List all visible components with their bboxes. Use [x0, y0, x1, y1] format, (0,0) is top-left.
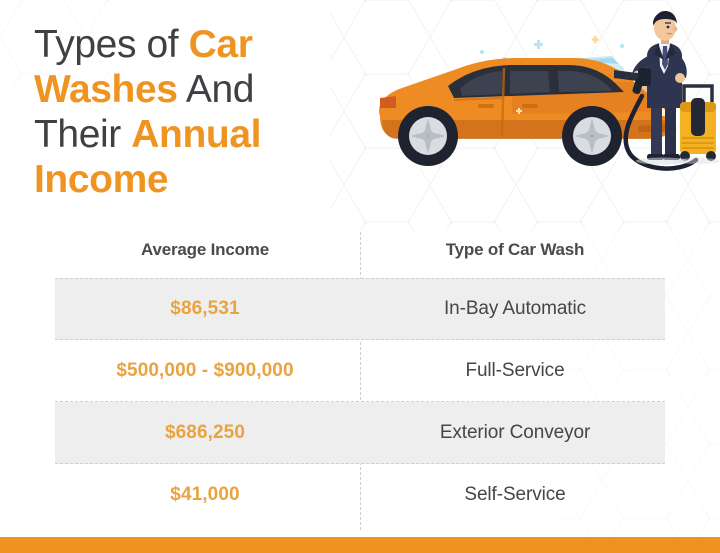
- title-line-4: Income: [34, 157, 364, 202]
- title-part-car: Car: [189, 23, 253, 66]
- title-part-income: Income: [34, 158, 168, 201]
- car-wash-illustration: [362, 8, 720, 208]
- cell-income: $86,531: [55, 278, 355, 340]
- title-part-annual: Annual: [131, 113, 261, 156]
- column-header-type-of-car-wash: Type of Car Wash: [365, 240, 665, 260]
- income-table: Average Income Type of Car Wash $86,531 …: [0, 232, 720, 532]
- cell-type: In-Bay Automatic: [365, 278, 665, 340]
- cell-income: $500,000 - $900,000: [55, 340, 355, 402]
- title-line-2: Washes And: [34, 67, 364, 112]
- title-part-types-of: Types of: [34, 23, 189, 66]
- title-part-their: Their: [34, 113, 131, 156]
- title-part-and: And: [178, 68, 254, 111]
- cell-income: $41,000: [55, 464, 355, 526]
- title-line-3: Their Annual: [34, 112, 364, 157]
- page-title: Types of Car Washes And Their Annual Inc…: [34, 22, 364, 202]
- title-part-washes: Washes: [34, 68, 178, 111]
- cell-type: Exterior Conveyor: [365, 402, 665, 464]
- infographic-canvas: Types of Car Washes And Their Annual Inc…: [0, 0, 720, 553]
- bottom-accent-bar: [0, 537, 720, 553]
- table-row[interactable]: $86,531 In-Bay Automatic: [0, 278, 720, 340]
- front-wheel-icon: [562, 106, 622, 166]
- table-row[interactable]: $41,000 Self-Service: [0, 464, 720, 526]
- cell-type: Full-Service: [365, 340, 665, 402]
- title-line-1: Types of Car: [34, 22, 364, 67]
- rear-wheel-icon: [398, 106, 458, 166]
- cell-type: Self-Service: [365, 464, 665, 526]
- table-row[interactable]: $686,250 Exterior Conveyor: [0, 402, 720, 464]
- pressure-washer-machine-icon: [680, 86, 716, 161]
- column-header-average-income: Average Income: [55, 240, 355, 260]
- cell-income: $686,250: [55, 402, 355, 464]
- table-row[interactable]: $500,000 - $900,000 Full-Service: [0, 340, 720, 402]
